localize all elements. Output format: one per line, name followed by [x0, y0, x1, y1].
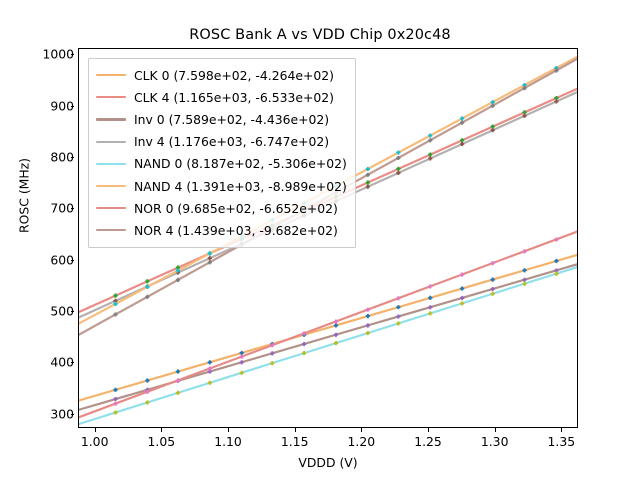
y-tick-label: 300: [28, 406, 74, 421]
x-tick-label: 1.10: [198, 434, 258, 449]
x-tick-mark: [361, 428, 362, 432]
y-tick-label: 500: [28, 303, 74, 318]
x-tick-mark: [295, 428, 296, 432]
y-tick-mark: [71, 106, 75, 107]
y-tick-mark: [71, 311, 75, 312]
x-tick-label: 1.25: [398, 434, 458, 449]
series-clk-0: [79, 255, 577, 401]
legend-item-nand-0[interactable]: NAND 0 (8.187e+02, -5.306e+02): [96, 153, 347, 175]
chart-legend: CLK 0 (7.598e+02, -4.264e+02)CLK 4 (1.16…: [88, 58, 356, 248]
y-tick-label: 900: [28, 98, 74, 113]
x-tick-mark: [228, 428, 229, 432]
legend-item-nor-4[interactable]: NOR 4 (1.439e+03, -9.682e+02): [96, 219, 347, 241]
y-tick-label: 1000: [28, 47, 74, 62]
y-tick-mark: [71, 260, 75, 261]
legend-line-swatch: [96, 74, 126, 76]
series-fit-line: [79, 267, 577, 424]
legend-label: NAND 0 (8.187e+02, -5.306e+02): [134, 156, 347, 171]
x-tick-mark: [428, 428, 429, 432]
legend-item-inv-0[interactable]: Inv 0 (7.589e+02, -4.436e+02): [96, 108, 347, 130]
series-fit-line: [79, 232, 577, 418]
x-tick-mark: [495, 428, 496, 432]
legend-line-swatch: [96, 163, 126, 165]
y-axis-ticks: 3004005006007008009001000: [26, 48, 74, 428]
series-inv-0: [79, 264, 577, 409]
x-tick-mark: [161, 428, 162, 432]
series-fit-line: [79, 264, 577, 409]
series-nand-0: [79, 267, 577, 424]
legend-label: NAND 4 (1.391e+03, -8.989e+02): [134, 179, 347, 194]
y-tick-label: 400: [28, 355, 74, 370]
legend-item-clk-4[interactable]: CLK 4 (1.165e+03, -6.533e+02): [96, 86, 347, 108]
legend-label: NOR 4 (1.439e+03, -9.682e+02): [134, 223, 338, 238]
x-tick-label: 1.00: [65, 434, 125, 449]
x-axis-label: VDDD (V): [78, 455, 578, 470]
y-tick-mark: [71, 157, 75, 158]
legend-item-nor-0[interactable]: NOR 0 (9.685e+02, -6.652e+02): [96, 197, 347, 219]
chart-title: ROSC Bank A vs VDD Chip 0x20c48: [0, 27, 640, 43]
legend-item-clk-0[interactable]: CLK 0 (7.598e+02, -4.264e+02): [96, 64, 347, 86]
legend-item-nand-4[interactable]: NAND 4 (1.391e+03, -8.989e+02): [96, 175, 347, 197]
y-tick-mark: [71, 208, 75, 209]
x-tick-label: 1.35: [531, 434, 591, 449]
series-nor-0: [79, 232, 577, 418]
legend-line-swatch: [96, 118, 126, 120]
legend-line-swatch: [96, 96, 126, 98]
y-tick-mark: [71, 362, 75, 363]
x-tick-label: 1.15: [265, 434, 325, 449]
x-tick-mark: [95, 428, 96, 432]
x-tick-label: 1.30: [465, 434, 525, 449]
legend-label: CLK 4 (1.165e+03, -6.533e+02): [134, 90, 334, 105]
legend-label: Inv 0 (7.589e+02, -4.436e+02): [134, 112, 329, 127]
legend-label: Inv 4 (1.176e+03, -6.747e+02): [134, 134, 329, 149]
series-fit-line: [79, 255, 577, 401]
legend-line-swatch: [96, 207, 126, 209]
legend-line-swatch: [96, 229, 126, 231]
legend-line-swatch: [96, 141, 126, 143]
legend-line-swatch: [96, 185, 126, 187]
x-axis-ticks: 1.001.051.101.151.201.251.301.35: [78, 428, 578, 454]
y-tick-label: 600: [28, 252, 74, 267]
x-tick-mark: [561, 428, 562, 432]
legend-label: CLK 0 (7.598e+02, -4.264e+02): [134, 68, 334, 83]
y-tick-label: 800: [28, 149, 74, 164]
chart-figure: ROSC Bank A vs VDD Chip 0x20c48 ROSC (MH…: [0, 0, 640, 480]
legend-item-inv-4[interactable]: Inv 4 (1.176e+03, -6.747e+02): [96, 131, 347, 153]
legend-label: NOR 0 (9.685e+02, -6.652e+02): [134, 201, 338, 216]
y-tick-label: 700: [28, 201, 74, 216]
x-tick-label: 1.20: [331, 434, 391, 449]
y-tick-mark: [71, 54, 75, 55]
x-tick-label: 1.05: [131, 434, 191, 449]
y-tick-mark: [71, 414, 75, 415]
